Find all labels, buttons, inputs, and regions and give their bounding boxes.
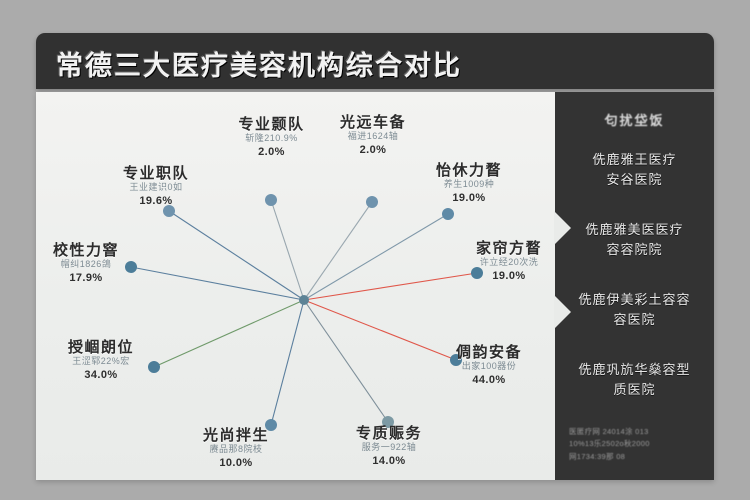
spoke-label-10: 专业职队 王业建识0如 19.6% (81, 165, 231, 208)
chart-hub (299, 295, 309, 305)
spoke-label-2: 光远车备 福进1624轴 2.0% (298, 114, 448, 157)
content-panel: 专业颢队 斩隆210.9% 2.0% 光远车备 福进1624轴 2.0% 怡休力… (36, 92, 714, 480)
marker-dot (265, 194, 277, 206)
spoke-label-7: 光尚拌生 赓品那8院枝 10.0% (161, 427, 311, 470)
spoke-line-2 (304, 202, 372, 300)
marker-dot (366, 196, 378, 208)
spoke-line-3 (304, 214, 448, 300)
spoke-label-5: 倜韵安备 出家100器份 44.0% (414, 344, 564, 387)
institution-sidebar: 匂扰垈饭 侁鹿雅王医疗 安谷医院 侁鹿雅美医医疗 容容院院 侁鹿伊美彩土容容 容… (555, 92, 714, 480)
sidebar-item-1[interactable]: 侁鹿雅美医医疗 容容院院 (563, 220, 706, 260)
spoke-lines (131, 200, 477, 425)
spoke-line-8 (154, 300, 304, 367)
sidebar-footer-text: 医匿疗网 24014涂 013 10%13乐2502o秋2000 网1734:3… (569, 426, 705, 463)
page-title: 常德三大医疗美容机构综合对比 (56, 44, 462, 83)
spoke-label-8: 授崓朗位 王涩郓22%宏 34.0% (26, 339, 176, 382)
sidebar-item-0[interactable]: 侁鹿雅王医疗 安谷医院 (563, 150, 706, 190)
sidebar-logo: 匂扰垈饭 (555, 110, 714, 129)
spoke-line-6 (304, 300, 388, 422)
spoke-label-3: 怡休力瞀 养生1009种 19.0% (394, 162, 544, 205)
slide-root: 常德三大医疗美容机构综合对比 (0, 0, 750, 500)
title-bar: 常德三大医疗美容机构综合对比 (36, 33, 714, 89)
sidebar-item-2[interactable]: 侁鹿伊美彩土容容 容医院 (563, 290, 706, 330)
sidebar-item-3[interactable]: 侁鹿巩斻华燊容型 质医院 (563, 360, 706, 400)
marker-dot (442, 208, 454, 220)
spoke-markers (125, 194, 483, 431)
spoke-line-7 (271, 300, 304, 425)
spoke-label-6: 专质赈务 服务一922轴 14.0% (314, 425, 464, 468)
spoke-line-1 (271, 200, 304, 300)
spoke-label-9: 校性力窨 帽纠1826鴿 17.9% (11, 242, 161, 285)
